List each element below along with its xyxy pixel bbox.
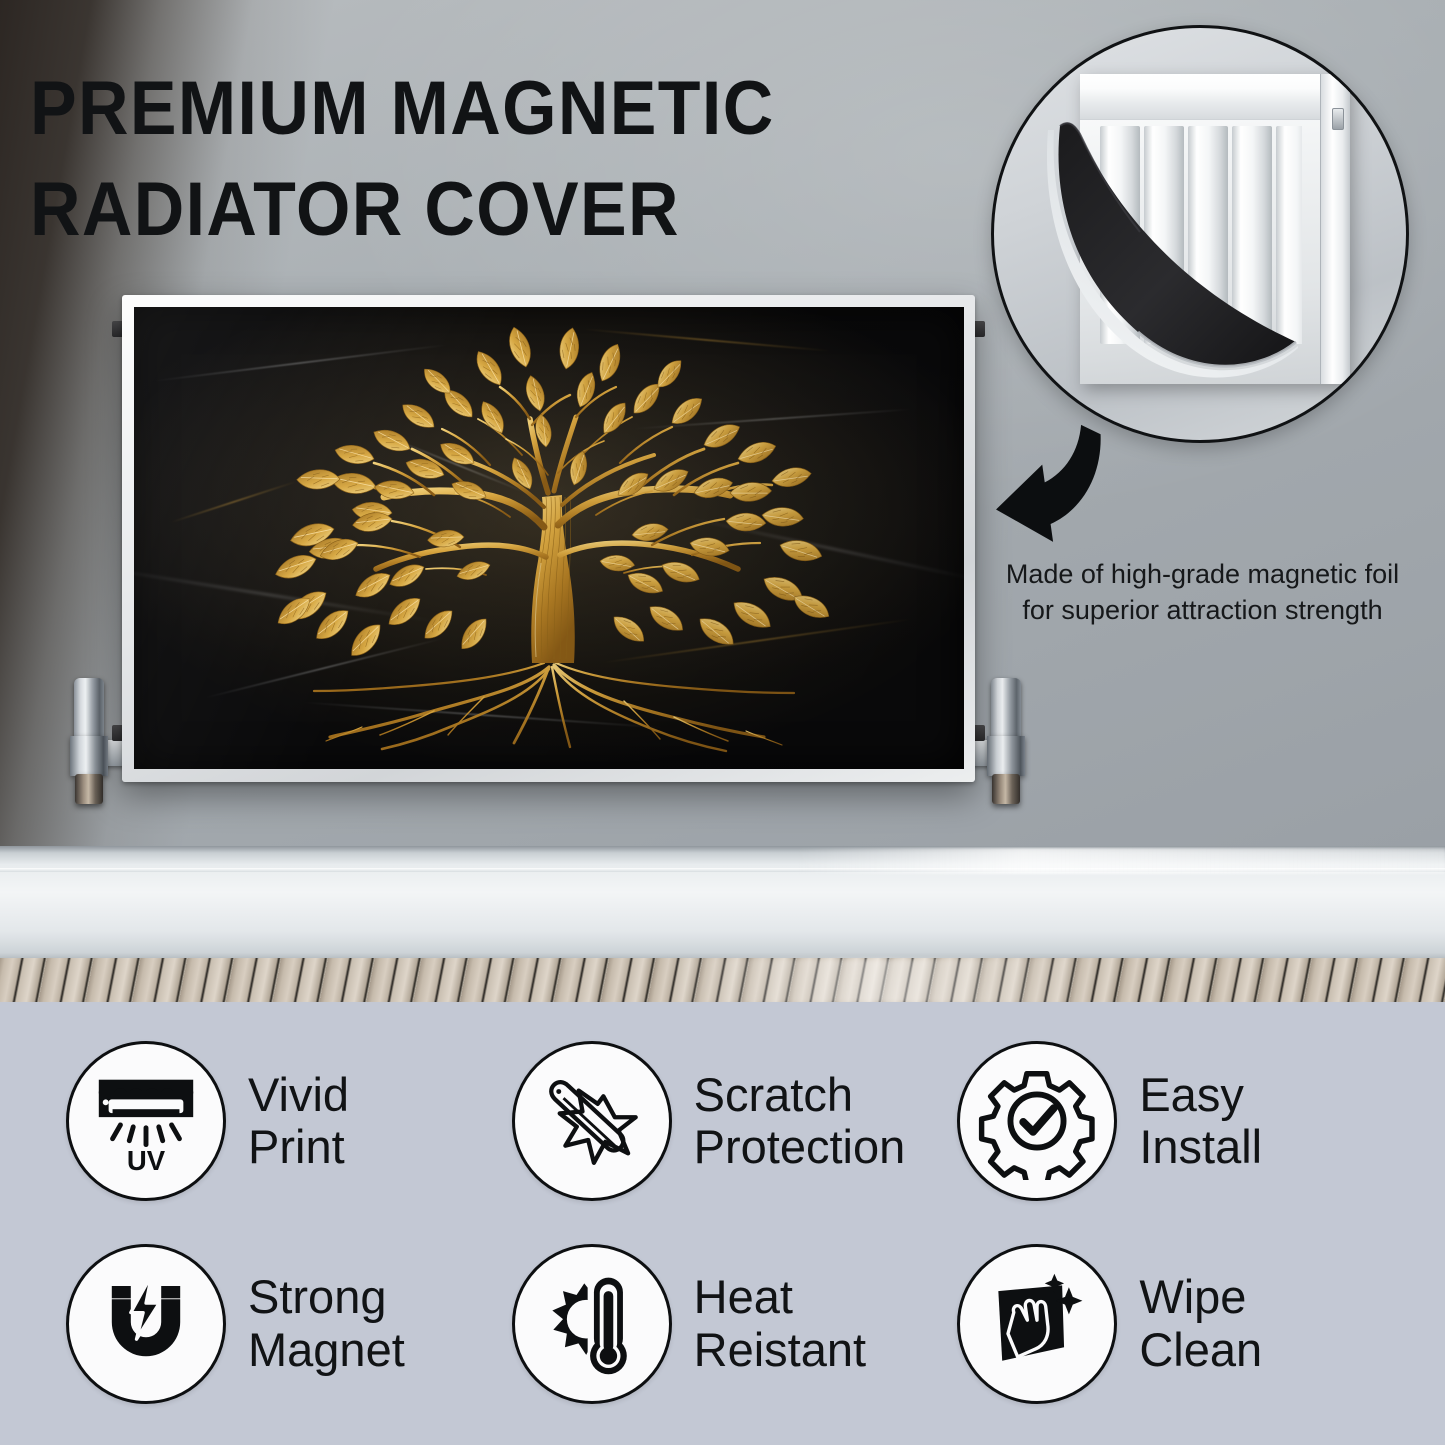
feature-label: Scratch Protection	[694, 1069, 906, 1174]
knife-scratch-icon	[535, 1064, 649, 1178]
feature-label: Wipe Clean	[1139, 1271, 1262, 1376]
valve-head	[74, 678, 104, 738]
gear-check-icon	[978, 1062, 1096, 1180]
cover-frame	[122, 295, 975, 782]
room-scene: PREMIUM MAGNETIC RADIATOR COVER	[0, 0, 1445, 1002]
feature-item-strong-magnet: Strong Magnet	[66, 1223, 506, 1426]
feature-label: Heat Reistant	[694, 1271, 866, 1376]
caption-line-2: for superior attraction strength	[975, 592, 1430, 628]
feature-label-line-2: Protection	[694, 1121, 906, 1174]
feature-label-line-2: Install	[1139, 1121, 1262, 1174]
feature-badge	[66, 1244, 226, 1404]
feature-item-wipe-clean: Wipe Clean	[957, 1223, 1397, 1426]
sun-thermometer-icon	[534, 1266, 650, 1382]
feature-badge	[512, 1041, 672, 1201]
feature-label-line-1: Wipe	[1139, 1270, 1246, 1323]
curved-arrow-icon	[983, 424, 1113, 544]
floor-reflection	[665, 958, 1099, 1002]
feature-label-line-2: Clean	[1139, 1324, 1262, 1377]
feature-label-line-1: Heat	[694, 1270, 793, 1323]
baseboard-highlight	[795, 848, 1445, 874]
feature-badge	[957, 1244, 1117, 1404]
radiator-valve-left	[68, 678, 110, 808]
title-line-1: PREMIUM MAGNETIC	[30, 58, 913, 159]
callout-caption: Made of high-grade magnetic foil for sup…	[975, 556, 1430, 629]
radiator-with-cover	[122, 295, 975, 782]
feature-item-heat-resistant: Heat Reistant	[512, 1223, 952, 1426]
page-title: PREMIUM MAGNETIC RADIATOR COVER	[30, 58, 913, 260]
feature-item-vivid-print: UV Vivid Print	[66, 1020, 506, 1223]
peeling-foil-corner-icon	[1046, 86, 1346, 386]
feature-label: Easy Install	[1139, 1069, 1262, 1174]
uv-printer-icon: UV	[87, 1062, 205, 1180]
magnetic-foil-callout	[991, 25, 1409, 443]
title-line-2: RADIATOR COVER	[30, 159, 913, 260]
feature-badge	[957, 1041, 1117, 1201]
tree-of-life-illustration	[134, 307, 964, 769]
uv-icon-text: UV	[127, 1145, 166, 1176]
feature-label-line-2: Reistant	[694, 1324, 866, 1377]
radiator-valve-right	[985, 678, 1027, 808]
valve-nut	[992, 774, 1020, 804]
feature-label-line-1: Vivid	[248, 1068, 349, 1121]
feature-badge: UV	[66, 1041, 226, 1201]
valve-body	[987, 736, 1025, 776]
valve-head	[991, 678, 1021, 738]
feature-label: Strong Magnet	[248, 1271, 405, 1376]
feature-badge	[512, 1244, 672, 1404]
valve-nut	[75, 774, 103, 804]
product-infographic: PREMIUM MAGNETIC RADIATOR COVER	[0, 0, 1445, 1445]
wipe-cloth-sparkle-icon	[979, 1266, 1095, 1382]
feature-label-line-1: Easy	[1139, 1068, 1244, 1121]
cover-artwork	[134, 307, 964, 769]
feature-label-line-2: Magnet	[248, 1324, 405, 1377]
feature-item-easy-install: Easy Install	[957, 1020, 1397, 1223]
feature-label-line-1: Scratch	[694, 1068, 853, 1121]
feature-label-line-1: Strong	[248, 1270, 386, 1323]
magnet-bolt-icon	[89, 1267, 203, 1381]
caption-line-1: Made of high-grade magnetic foil	[975, 556, 1430, 592]
feature-panel: UV Vivid Print Scra	[0, 1002, 1445, 1445]
feature-label: Vivid Print	[248, 1069, 349, 1174]
valve-body	[70, 736, 108, 776]
feature-item-scratch-protection: Scratch Protection	[512, 1020, 952, 1223]
feature-label-line-2: Print	[248, 1121, 349, 1174]
